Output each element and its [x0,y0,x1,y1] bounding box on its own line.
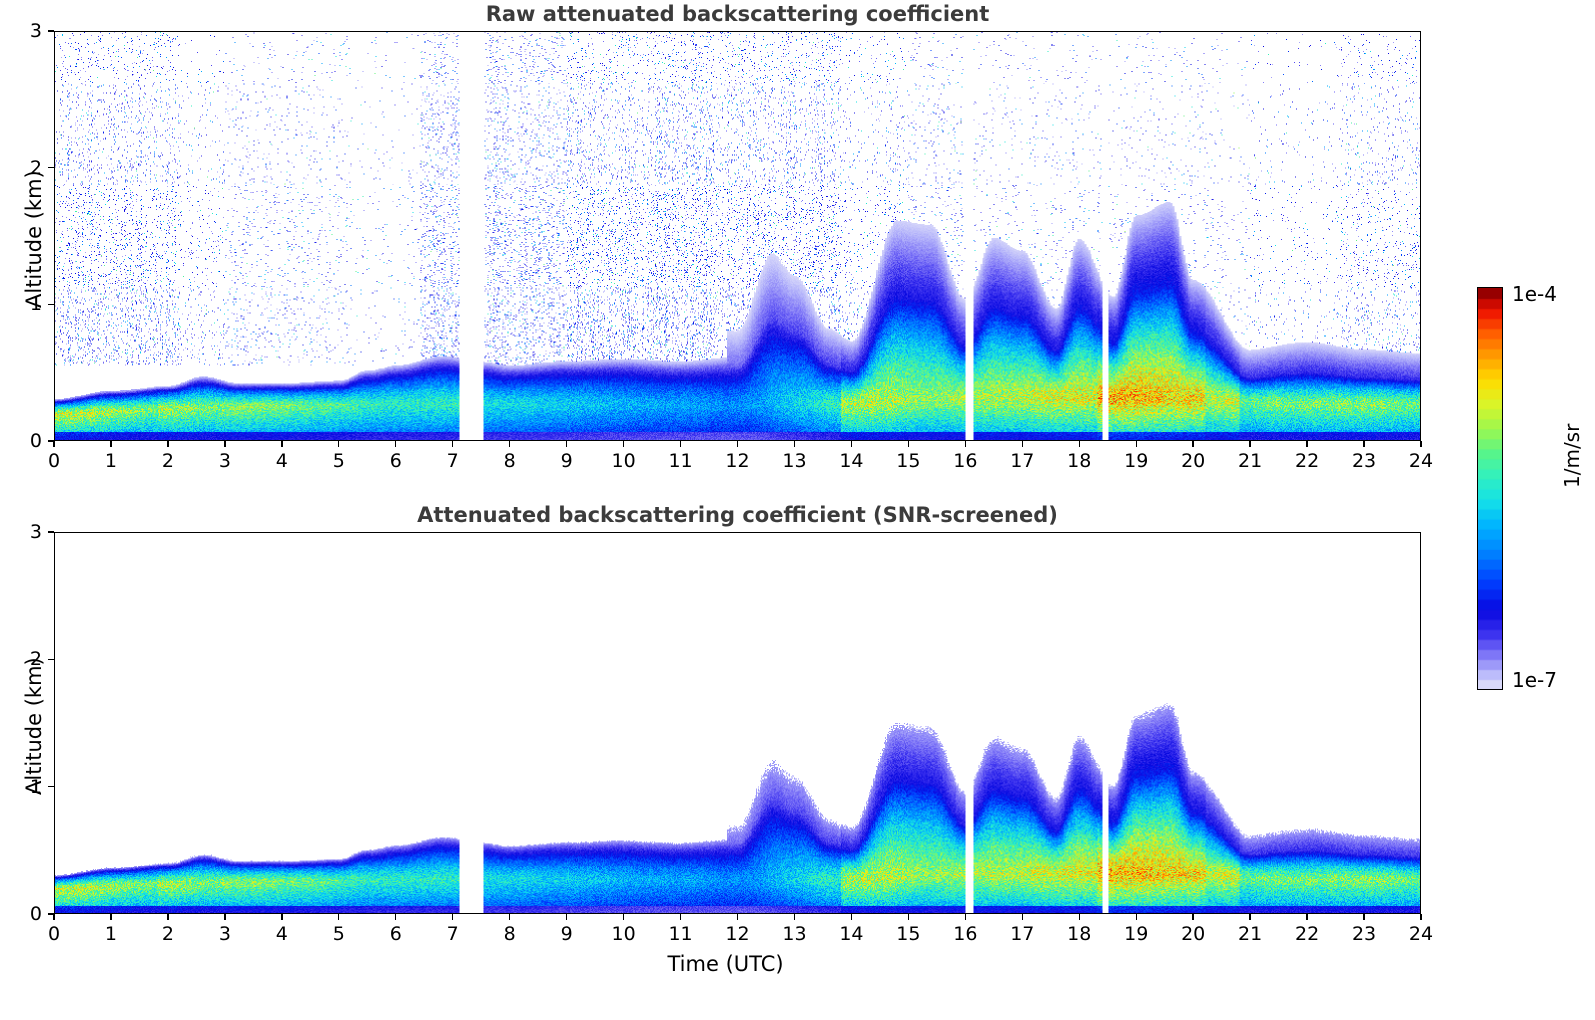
colorbar-min-label: 1e-7 [1512,668,1557,692]
x-tick-mark [737,914,738,920]
x-tick-mark [1363,914,1364,920]
x-tick-label-22: 22 [1295,450,1319,472]
x-tick-label-5: 5 [333,923,345,945]
x-tick-mark [1306,441,1307,447]
x-tick-mark [53,441,54,447]
x-tick-mark [1306,914,1307,920]
colorbar-unit-label: 1/m/sr [1560,424,1584,488]
x-tick-label-21: 21 [1238,450,1262,472]
x-tick-label-1: 1 [105,450,117,472]
x-tick-mark [452,914,453,920]
x-axis-title-time: Time (UTC) [668,952,784,976]
x-tick-mark [680,441,681,447]
x-tick-mark [395,914,396,920]
x-tick-mark [794,914,795,920]
x-tick-label-14: 14 [839,923,863,945]
x-tick-label-10: 10 [611,923,635,945]
y-tick-label-0: 0 [14,430,42,452]
x-tick-label-6: 6 [390,923,402,945]
x-tick-mark [1136,441,1137,447]
x-tick-label-13: 13 [782,450,806,472]
heatmap-panel-screened[interactable] [54,532,1421,914]
x-tick-label-18: 18 [1067,923,1091,945]
x-tick-mark [737,441,738,447]
panel-title-raw: Raw attenuated backscattering coefficien… [54,2,1421,26]
x-tick-mark [965,441,966,447]
x-tick-label-6: 6 [390,450,402,472]
heatmap-image-raw [55,32,1420,440]
x-tick-mark [224,914,225,920]
colorbar[interactable] [1477,287,1503,690]
x-tick-mark [680,914,681,920]
heatmap-panel-raw[interactable] [54,31,1421,441]
x-tick-mark [167,441,168,447]
x-tick-mark [1022,441,1023,447]
x-tick-label-7: 7 [447,923,459,945]
y-tick-mark [48,167,54,168]
x-tick-mark [623,441,624,447]
x-tick-label-8: 8 [504,923,516,945]
x-tick-mark [566,441,567,447]
x-tick-label-17: 17 [1010,923,1034,945]
x-tick-label-17: 17 [1010,450,1034,472]
x-tick-label-12: 12 [725,923,749,945]
x-tick-mark [452,441,453,447]
x-tick-label-5: 5 [333,450,345,472]
x-tick-mark [338,914,339,920]
x-tick-mark [965,914,966,920]
x-tick-label-19: 19 [1124,923,1148,945]
x-tick-mark [1420,914,1421,920]
x-tick-label-9: 9 [561,450,573,472]
x-tick-mark [908,441,909,447]
x-tick-mark [1022,914,1023,920]
x-tick-label-16: 16 [953,450,977,472]
y-tick-label-3: 3 [14,20,42,42]
x-tick-label-11: 11 [668,923,692,945]
x-tick-mark [851,914,852,920]
x-tick-label-8: 8 [504,450,516,472]
x-tick-mark [1420,441,1421,447]
heatmap-image-screened [55,533,1420,913]
y-tick-mark [48,913,54,914]
x-tick-label-9: 9 [561,923,573,945]
x-tick-label-20: 20 [1181,923,1205,945]
x-tick-label-7: 7 [447,450,459,472]
x-tick-mark [908,914,909,920]
x-tick-mark [338,441,339,447]
y-tick-label-3: 3 [14,521,42,543]
x-tick-label-2: 2 [162,450,174,472]
x-tick-label-18: 18 [1067,450,1091,472]
x-tick-mark [395,441,396,447]
x-tick-label-0: 0 [48,450,60,472]
x-tick-mark [1192,914,1193,920]
colorbar-gradient [1478,288,1502,689]
x-tick-label-0: 0 [48,923,60,945]
panel-title-screened: Attenuated backscattering coefficient (S… [54,503,1421,527]
x-tick-label-4: 4 [276,450,288,472]
x-tick-mark [794,441,795,447]
x-tick-label-24: 24 [1409,923,1433,945]
y-tick-mark [48,531,54,532]
x-tick-mark [1249,441,1250,447]
x-tick-mark [1079,914,1080,920]
x-tick-mark [509,441,510,447]
x-tick-mark [1079,441,1080,447]
x-tick-label-21: 21 [1238,923,1262,945]
x-tick-mark [110,441,111,447]
y-tick-mark [48,786,54,787]
x-tick-mark [53,914,54,920]
x-tick-label-13: 13 [782,923,806,945]
x-tick-mark [1192,441,1193,447]
figure-canvas: Raw attenuated backscattering coefficien… [0,0,1595,1020]
x-tick-mark [281,914,282,920]
x-tick-label-20: 20 [1181,450,1205,472]
x-tick-label-15: 15 [896,923,920,945]
y-tick-mark [48,304,54,305]
x-tick-mark [1363,441,1364,447]
x-tick-label-4: 4 [276,923,288,945]
x-tick-mark [167,914,168,920]
x-tick-mark [110,914,111,920]
y-axis-title-raw: Altitude (km) [22,170,46,308]
x-tick-mark [281,441,282,447]
x-tick-label-23: 23 [1352,450,1376,472]
y-tick-mark [48,440,54,441]
x-tick-label-10: 10 [611,450,635,472]
x-tick-label-15: 15 [896,450,920,472]
x-tick-label-22: 22 [1295,923,1319,945]
x-tick-label-2: 2 [162,923,174,945]
x-tick-mark [1136,914,1137,920]
x-tick-label-24: 24 [1409,450,1433,472]
colorbar-max-label: 1e-4 [1512,282,1557,306]
x-tick-label-3: 3 [219,450,231,472]
x-tick-label-14: 14 [839,450,863,472]
x-tick-label-19: 19 [1124,450,1148,472]
x-tick-mark [1249,914,1250,920]
x-tick-label-16: 16 [953,923,977,945]
x-tick-label-3: 3 [219,923,231,945]
x-tick-mark [851,441,852,447]
x-tick-mark [623,914,624,920]
x-tick-mark [224,441,225,447]
x-tick-label-1: 1 [105,923,117,945]
y-axis-title-screened: Altitude (km) [22,657,46,795]
x-tick-label-11: 11 [668,450,692,472]
x-tick-mark [509,914,510,920]
y-tick-mark [48,30,54,31]
y-tick-label-0: 0 [14,903,42,925]
x-tick-label-12: 12 [725,450,749,472]
x-tick-mark [566,914,567,920]
y-tick-mark [48,659,54,660]
x-tick-label-23: 23 [1352,923,1376,945]
